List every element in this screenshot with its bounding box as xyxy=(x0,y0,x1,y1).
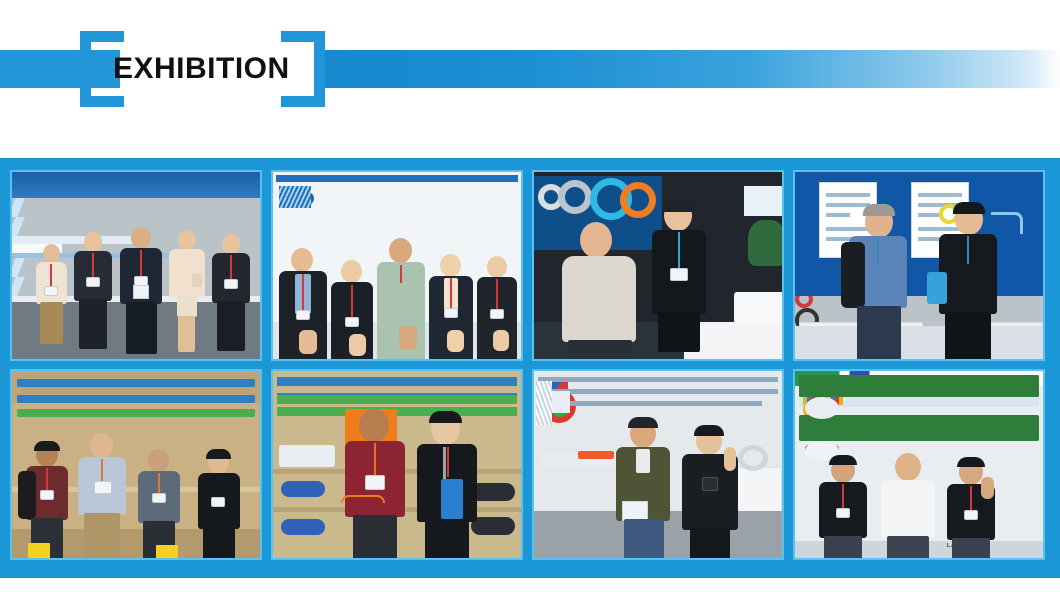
exhibition-photo-gallery: Group of five staff at the LANG CHI exhi… xyxy=(0,158,1060,578)
gallery-photo-6[interactable]: Two men with an orange exhibition tote b… xyxy=(271,369,523,560)
gallery-photo-5[interactable]: Four men posing at a green and wood them… xyxy=(10,369,262,560)
page-title: EXHIBITION xyxy=(113,49,293,89)
gallery-photo-7[interactable]: Two visitors in winter jackets standing … xyxy=(532,369,784,560)
gallery-photo-8[interactable]: NINGBO LANGCHI NEW MATERIALS TECHNOLOGY … xyxy=(793,369,1045,560)
gallery-row-1: Group of five staff at the LANG CHI exhi… xyxy=(10,170,1050,361)
gallery-row-2: Four men posing at a green and wood them… xyxy=(10,369,1050,560)
header-banner: EXHIBITION xyxy=(0,0,1060,155)
gallery-photo-1[interactable]: Group of five staff at the LANG CHI exhi… xyxy=(10,170,262,361)
header-bar-right-gradient xyxy=(325,50,1060,88)
page-root: EXHIBITION xyxy=(0,0,1060,615)
gallery-photo-2[interactable]: Five team members giving thumbs up in fr… xyxy=(271,170,523,361)
gallery-photo-3[interactable]: Visitor seated at negotiation table with… xyxy=(532,170,784,361)
gallery-photo-4[interactable]: Sales representative showing a coiled tu… xyxy=(793,170,1045,361)
